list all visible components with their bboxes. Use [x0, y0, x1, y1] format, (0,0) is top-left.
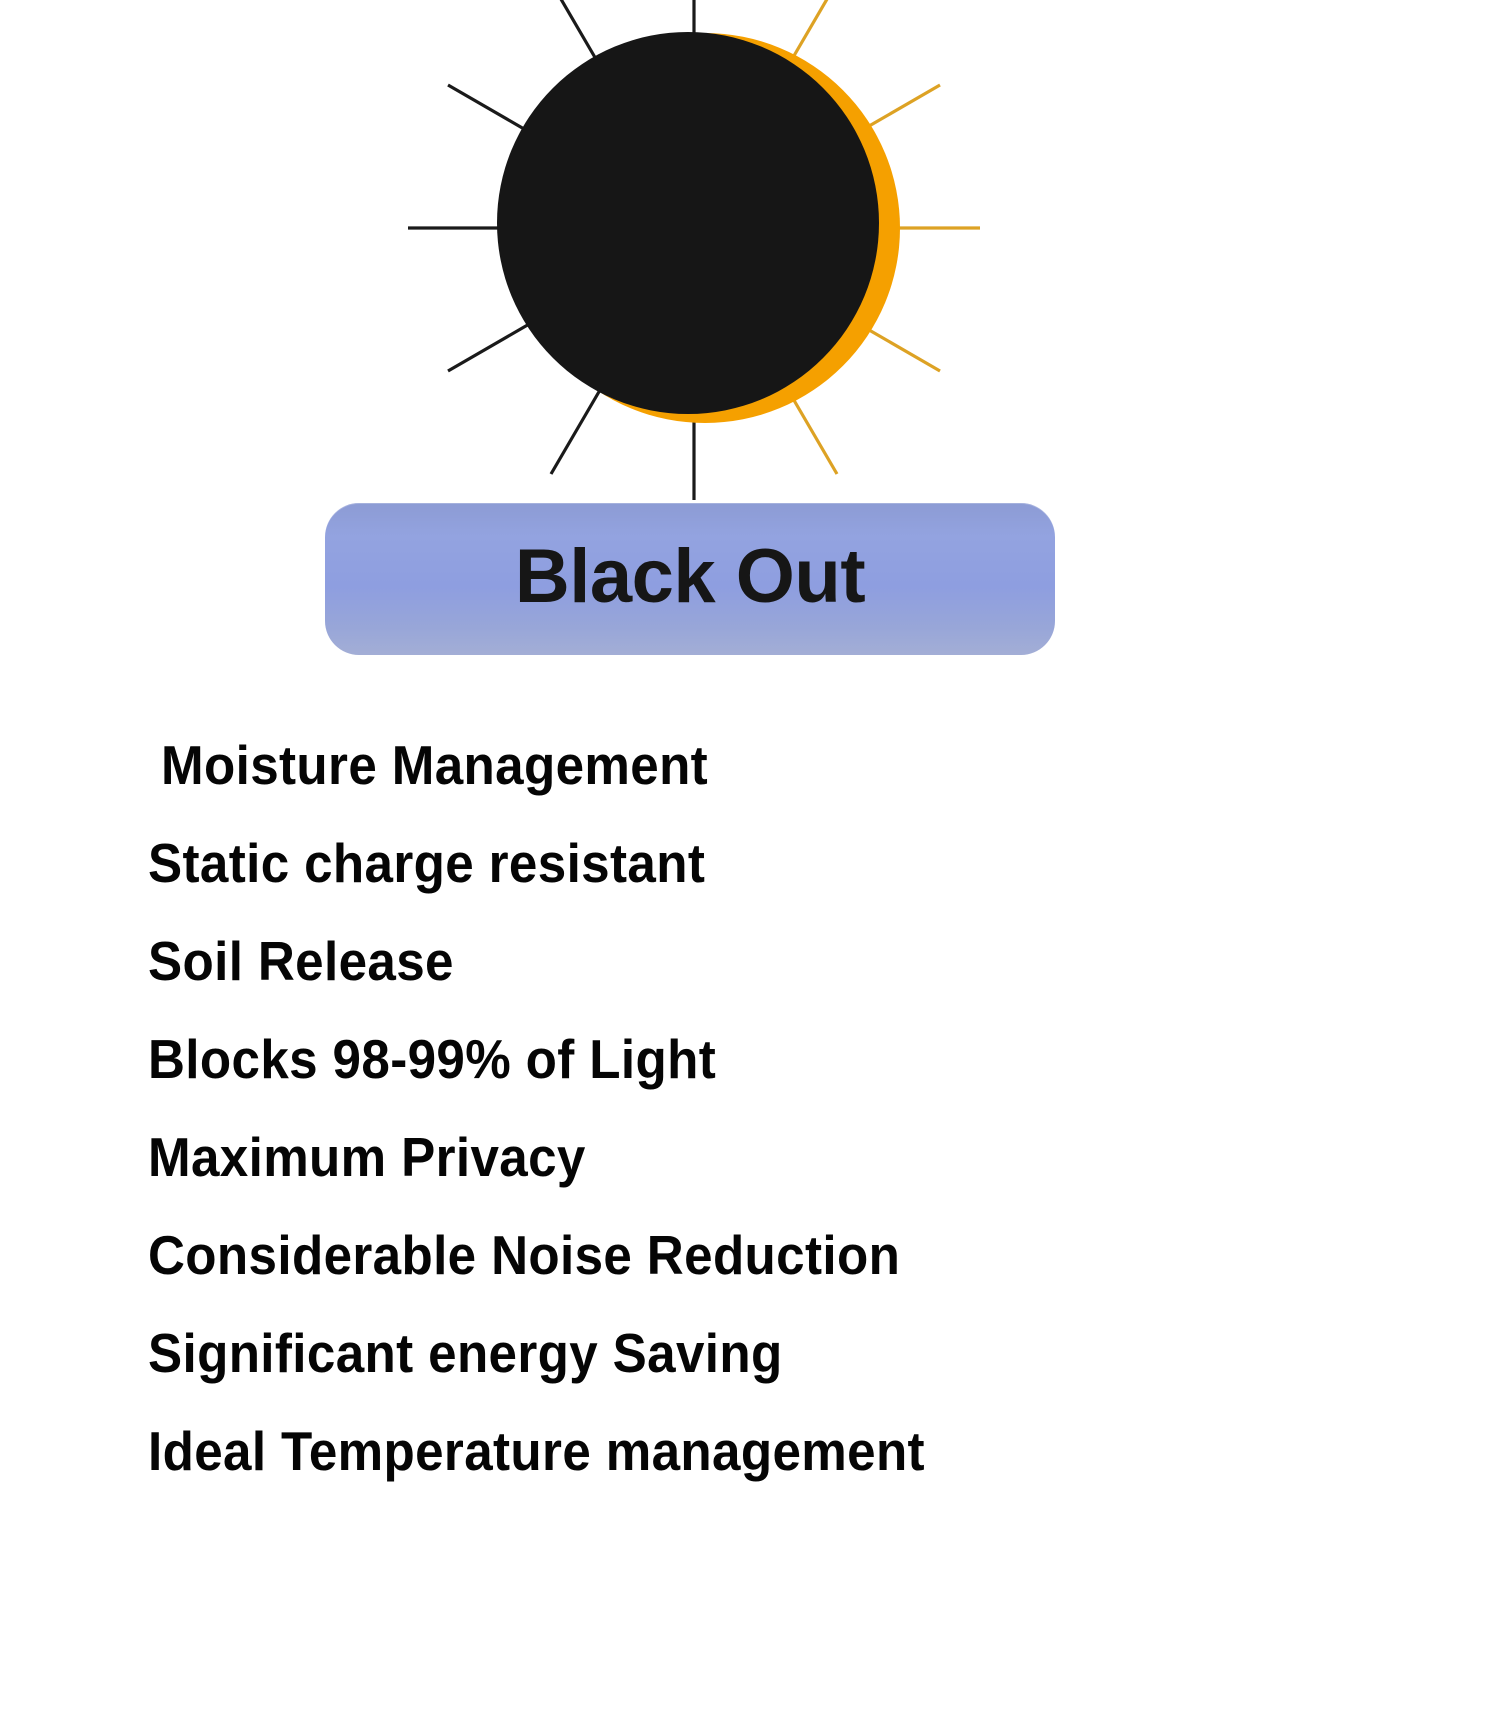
- list-item: Blocks 98-99% of Light: [148, 1010, 1385, 1108]
- feature-text: Significant energy Saving: [148, 1326, 783, 1381]
- feature-text: Static charge resistant: [148, 836, 705, 891]
- list-item: Soil Release: [148, 912, 1385, 1010]
- list-item: Significant energy Saving: [148, 1304, 1385, 1402]
- feature-text: Blocks 98-99% of Light: [148, 1032, 716, 1087]
- list-item: Considerable Noise Reduction: [148, 1206, 1385, 1304]
- feature-text: Considerable Noise Reduction: [148, 1228, 900, 1283]
- feature-text: Ideal Temperature management: [148, 1424, 925, 1479]
- feature-text: Maximum Privacy: [148, 1130, 586, 1185]
- black-out-button-label: Black Out: [515, 539, 865, 619]
- list-item: Ideal Temperature management: [148, 1402, 1385, 1500]
- list-item: Moisture Management: [148, 716, 1385, 814]
- sun-dark-disc: [497, 32, 879, 414]
- list-item: Static charge resistant: [148, 814, 1385, 912]
- feature-list: Moisture Management Static charge resist…: [148, 716, 1478, 1500]
- list-item: Maximum Privacy: [148, 1108, 1385, 1206]
- eclipsed-sun-graphic: [0, 0, 1497, 500]
- feature-text: Soil Release: [148, 934, 454, 989]
- feature-text: Moisture Management: [161, 738, 708, 793]
- black-out-button[interactable]: Black Out: [325, 503, 1055, 655]
